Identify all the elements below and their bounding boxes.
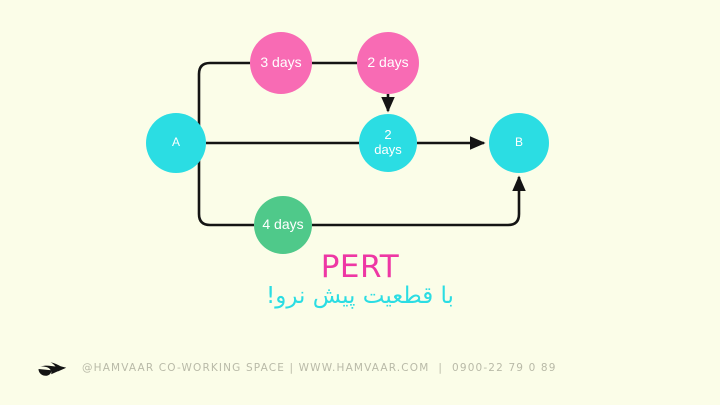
edge-a-to-three-days — [199, 63, 250, 140]
edge-four-days-to-b — [312, 177, 519, 225]
node-b[interactable]: B — [489, 113, 549, 173]
node-two-days-top-label: 2 days — [367, 55, 408, 71]
main-title: PERT — [0, 249, 720, 285]
node-a-label: A — [172, 136, 180, 149]
infographic-canvas: A 3 days 2 days 2 days 4 days B PERT با … — [0, 0, 720, 405]
hamvaar-bird-logo — [36, 357, 68, 379]
node-three-days[interactable]: 3 days — [250, 32, 312, 94]
node-three-days-label: 3 days — [260, 55, 301, 71]
footer: @HAMVAAR CO-WORKING SPACE | WWW.HAMVAAR.… — [0, 330, 720, 405]
node-two-days-top[interactable]: 2 days — [357, 32, 419, 94]
node-two-days-middle-label: 2 days — [374, 128, 401, 157]
node-a[interactable]: A — [146, 113, 206, 173]
node-four-days-label: 4 days — [262, 217, 303, 233]
node-b-label: B — [515, 136, 523, 149]
node-two-days-middle[interactable]: 2 days — [359, 114, 417, 172]
subtitle-persian: با قطعیت پیش نرو! — [0, 283, 720, 309]
edge-a-to-four-days — [199, 147, 254, 225]
footer-text: @HAMVAAR CO-WORKING SPACE | WWW.HAMVAAR.… — [82, 362, 557, 374]
node-four-days[interactable]: 4 days — [254, 196, 312, 254]
